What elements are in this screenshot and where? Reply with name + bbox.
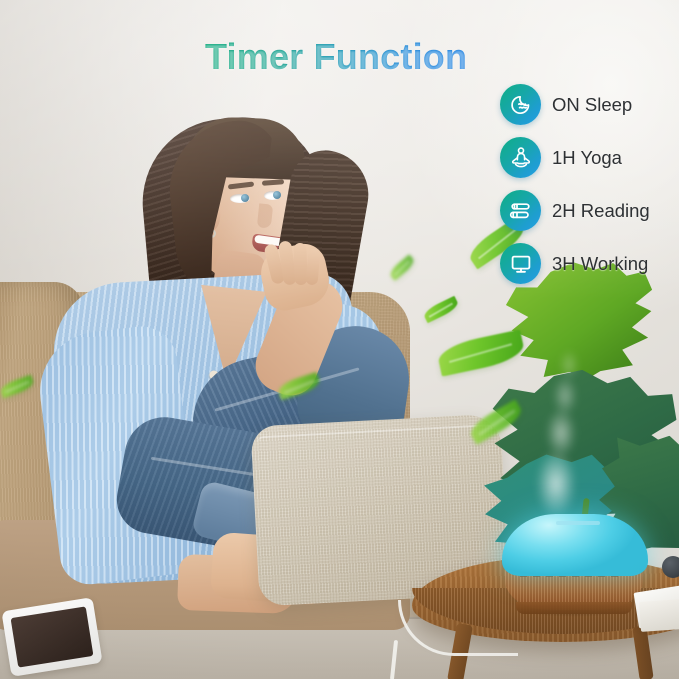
tablet-screen [11, 606, 94, 667]
feature-label: 3H Working [552, 253, 648, 275]
moon-sleep-icon [500, 84, 541, 125]
iris-left [241, 194, 249, 202]
feature-row-1h-yoga[interactable]: 1H Yoga [500, 131, 675, 184]
feature-row-2h-reading[interactable]: 2H Reading [500, 184, 675, 237]
yoga-meditation-icon [500, 137, 541, 178]
feature-label: 2H Reading [552, 200, 650, 222]
diffuser-mist-outlet [556, 521, 600, 525]
iris-right [273, 191, 281, 199]
feature-label: ON Sleep [552, 94, 632, 116]
feature-row-on-sleep[interactable]: ON Sleep [500, 78, 675, 131]
diffuser-feet [516, 602, 632, 614]
timer-feature-list: ON Sleep 1H Yoga [500, 78, 675, 290]
notebook-page [639, 598, 679, 632]
page-title: Timer Function [205, 36, 467, 78]
stacked-books-icon [500, 190, 541, 231]
feature-row-3h-working[interactable]: 3H Working [500, 237, 675, 290]
computer-monitor-icon [500, 243, 541, 284]
feature-label: 1H Yoga [552, 147, 622, 169]
decor-object [662, 556, 679, 578]
product-banner: Timer Function ON Sleep [0, 0, 679, 679]
